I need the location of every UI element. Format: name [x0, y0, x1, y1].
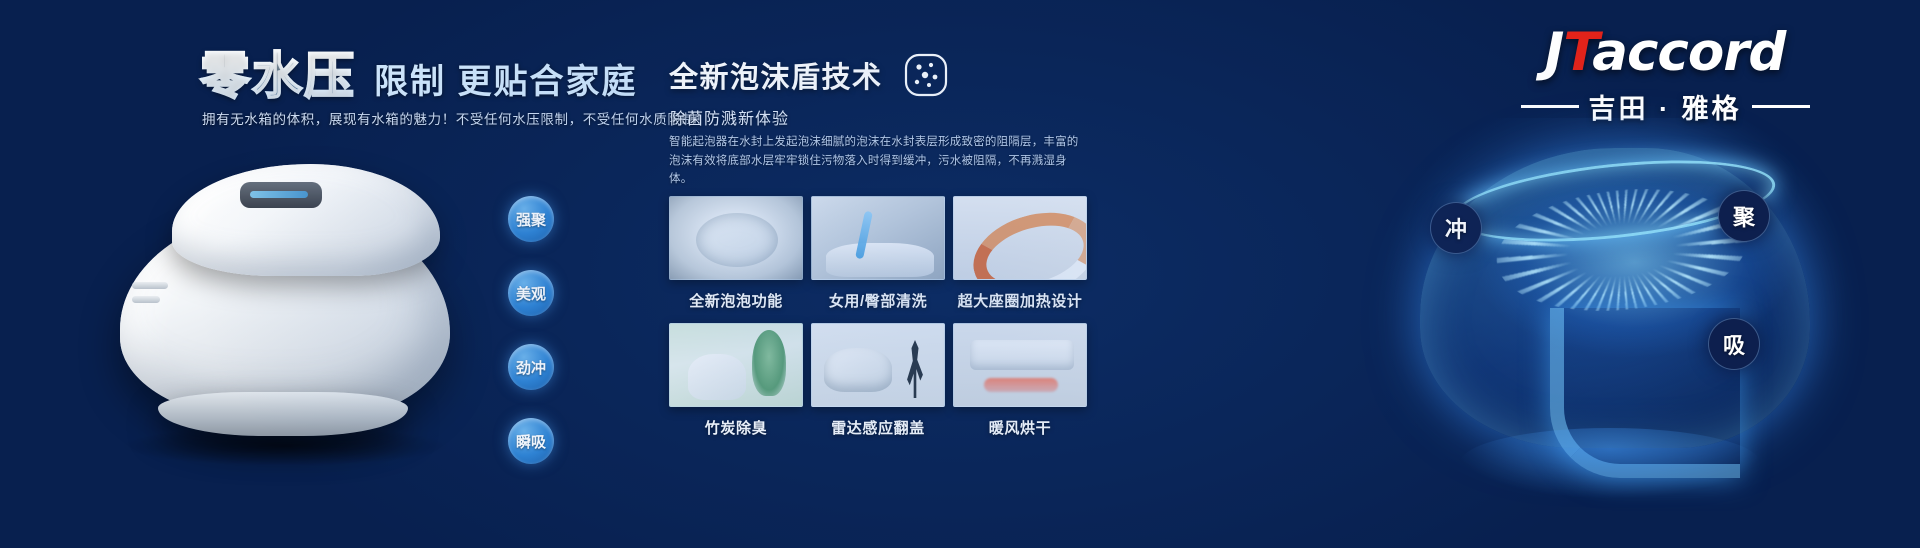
- brand-logo-letter-j: J: [1545, 22, 1564, 83]
- feature-pill-list: 强聚 美观 劲冲 瞬吸: [508, 196, 554, 492]
- brand-logo-letters-accord: accord: [1592, 22, 1785, 83]
- feature-card-label: 全新泡泡功能: [669, 290, 803, 311]
- middle-paragraph: 智能起泡器在水封上发起泡沫细腻的泡沫在水封表层形成致密的阻隔层，丰富的泡沫有效将…: [669, 133, 1089, 189]
- feature-grid-row: 竹炭除臭 雷达感应翻盖 暖风烘干: [669, 323, 1089, 450]
- headline-sub-text: 限制 更贴合家庭: [374, 54, 637, 108]
- feature-card-label: 竹炭除臭: [669, 417, 803, 438]
- feature-card[interactable]: 超大座圈加热设计: [953, 196, 1087, 323]
- feature-card[interactable]: 女用/臀部清洗: [811, 196, 945, 323]
- feature-card[interactable]: 竹炭除臭: [669, 323, 803, 450]
- feature-pill-3[interactable]: 瞬吸: [508, 418, 554, 464]
- middle-title: 全新泡沫盾技术: [669, 54, 883, 96]
- feature-card-label: 超大座圈加热设计: [953, 290, 1087, 311]
- left-panel: 零水压 限制 更贴合家庭 拥有无水箱的体积，展现有水箱的魅力！不受任何水压限制，…: [0, 0, 640, 548]
- feature-card[interactable]: 雷达感应翻盖: [811, 323, 945, 450]
- left-headline: 零水压 限制 更贴合家庭: [200, 36, 637, 108]
- middle-title-row: 全新泡沫盾技术: [669, 52, 949, 98]
- xray-toilet-render: [1400, 128, 1830, 528]
- product-photo-toilet: [80, 130, 500, 460]
- feature-pill-label: 强聚: [516, 209, 546, 230]
- feature-grid-row: 全新泡泡功能 女用/臀部清洗 超大座圈加热设计: [669, 196, 1089, 323]
- feature-pill-label: 劲冲: [516, 357, 546, 378]
- feature-card[interactable]: 全新泡泡功能: [669, 196, 803, 323]
- toilet-bowl-foam-thumb: [669, 196, 803, 280]
- brand-logo-cn: 吉田 · 雅格: [1589, 87, 1742, 126]
- logo-rule-left: [1521, 105, 1579, 108]
- radar-sensor-lid-thumb: [811, 323, 945, 407]
- left-description: 拥有无水箱的体积，展现有水箱的魅力！不受任何水压限制，不受任何水质限制！: [202, 108, 710, 128]
- logo-rule-right: [1752, 105, 1810, 108]
- bubble-shield-icon: [903, 52, 949, 98]
- washing-nozzle-thumb: [811, 196, 945, 280]
- right-badge-chong[interactable]: 冲: [1430, 202, 1482, 254]
- product-control-panel: [240, 182, 322, 208]
- brand-logo-letter-t: T: [1563, 22, 1592, 83]
- feature-grid: 全新泡泡功能 女用/臀部清洗 超大座圈加热设计 竹炭除臭 雷: [669, 196, 1089, 450]
- right-panel: JTaccord 吉田 · 雅格 冲 聚 吸: [1300, 0, 1920, 548]
- promo-banner: 零水压 限制 更贴合家庭 拥有无水箱的体积，展现有水箱的魅力！不受任何水压限制，…: [0, 0, 1920, 548]
- xray-base-glow: [1460, 428, 1760, 498]
- right-badge-label: 冲: [1445, 212, 1467, 244]
- brand-logo: JTaccord 吉田 · 雅格: [1495, 26, 1835, 126]
- feature-pill-0[interactable]: 强聚: [508, 196, 554, 242]
- middle-panel: 全新泡沫盾技术 除菌防溅新体验 智能起泡器在水封上发起泡沫细腻的泡沫在水封表层形…: [660, 0, 1300, 548]
- feature-pill-label: 瞬吸: [516, 431, 546, 452]
- middle-subtitle: 除菌防溅新体验: [670, 105, 789, 129]
- feature-pill-1[interactable]: 美观: [508, 270, 554, 316]
- feature-card-label: 女用/臀部清洗: [811, 290, 945, 311]
- right-badge-label: 聚: [1733, 200, 1755, 232]
- feature-pill-label: 美观: [516, 283, 546, 304]
- feature-card[interactable]: 暖风烘干: [953, 323, 1087, 450]
- right-badge-ju[interactable]: 聚: [1718, 190, 1770, 242]
- warm-air-dryer-thumb: [953, 323, 1087, 407]
- right-badge-label: 吸: [1723, 328, 1745, 360]
- feature-card-label: 暖风烘干: [953, 417, 1087, 438]
- feature-card-label: 雷达感应翻盖: [811, 417, 945, 438]
- product-lid: [172, 164, 440, 276]
- product-button-icon: [132, 282, 168, 289]
- feature-pill-2[interactable]: 劲冲: [508, 344, 554, 390]
- product-button-secondary-icon: [132, 296, 160, 303]
- brand-logo-cn-row: 吉田 · 雅格: [1495, 87, 1835, 126]
- heated-seat-ring-thumb: [953, 196, 1087, 280]
- bamboo-charcoal-thumb: [669, 323, 803, 407]
- product-base: [158, 392, 408, 436]
- brand-logo-wordmark: JTaccord: [1495, 26, 1835, 79]
- right-badge-xi[interactable]: 吸: [1708, 318, 1760, 370]
- headline-main-text: 零水压: [200, 36, 356, 108]
